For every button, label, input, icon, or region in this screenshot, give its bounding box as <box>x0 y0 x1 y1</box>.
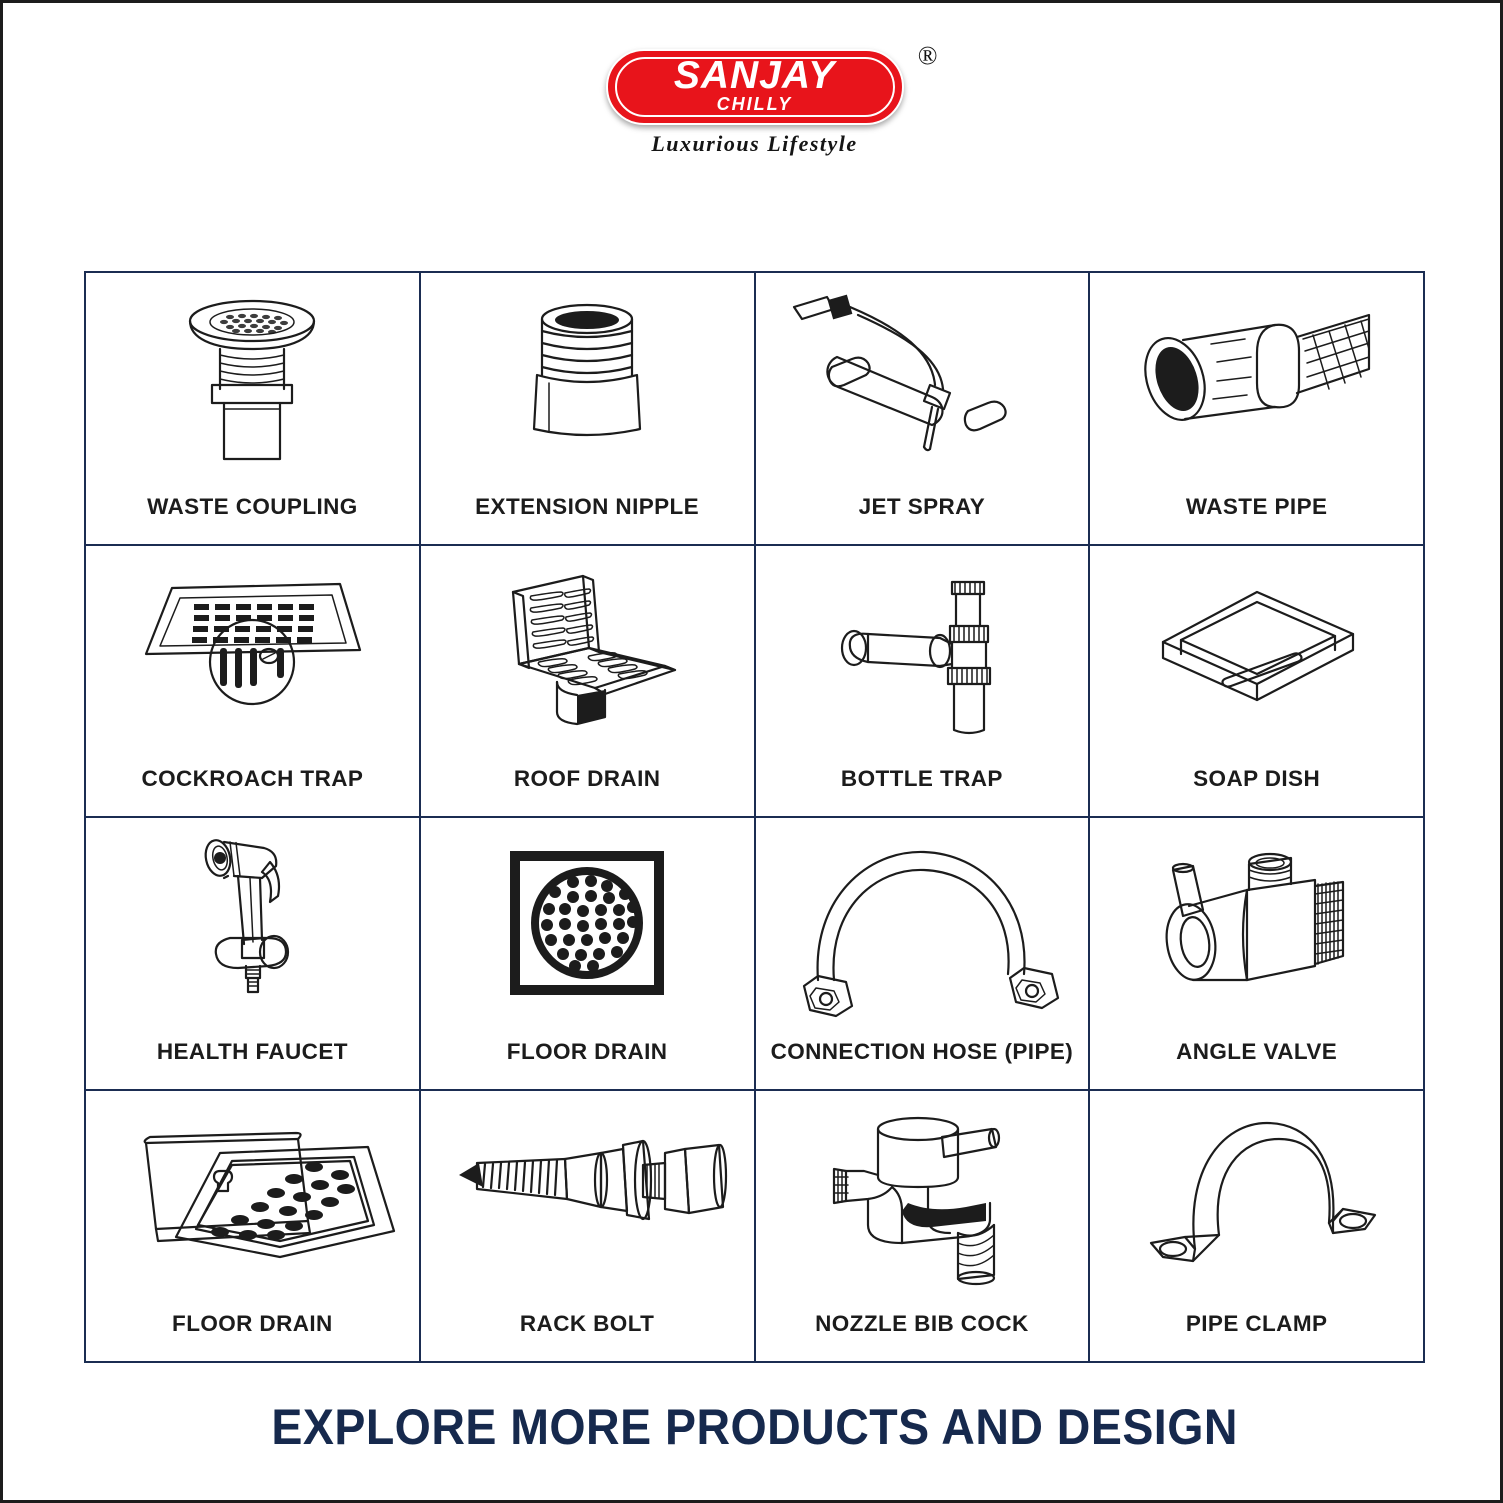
waste-pipe-icon <box>1107 289 1407 479</box>
roof-drain-icon <box>437 562 737 752</box>
soap-dish-icon <box>1107 562 1407 752</box>
logo-brand-name: SANJAY <box>606 54 904 98</box>
product-cell-waste-coupling[interactable]: WASTE COUPLING <box>86 273 421 546</box>
nozzle-bib-cock-icon <box>772 1107 1072 1297</box>
product-label: CONNECTION HOSE (PIPE) <box>760 1039 1085 1065</box>
product-label: FLOOR DRAIN <box>425 1039 750 1065</box>
bottle-trap-icon <box>772 562 1072 752</box>
product-label: WASTE PIPE <box>1094 494 1419 520</box>
brand-logo: SANJAY CHILLY ® Luxurious Lifestyle <box>3 49 1503 179</box>
product-label: WASTE COUPLING <box>90 494 415 520</box>
product-label: NOZZLE BIB COCK <box>760 1311 1085 1337</box>
extension-nipple-icon <box>437 289 737 479</box>
product-label: FLOOR DRAIN <box>90 1311 415 1337</box>
connection-hose-icon <box>772 834 1072 1024</box>
product-cell-floor-drain-round[interactable]: FLOOR DRAIN <box>421 818 756 1091</box>
product-cell-jet-spray[interactable]: JET SPRAY <box>756 273 1091 546</box>
product-cell-soap-dish[interactable]: SOAP DISH <box>1090 546 1425 819</box>
registered-trademark-icon: ® <box>918 41 938 71</box>
floor-drain-round-icon <box>437 834 737 1024</box>
angle-valve-icon <box>1107 834 1407 1024</box>
waste-coupling-icon <box>102 289 402 479</box>
cockroach-trap-icon <box>102 562 402 752</box>
pipe-clamp-icon <box>1107 1107 1407 1297</box>
product-grid: WASTE COUPLING EXTENSION NIPPLE <box>84 271 1425 1363</box>
product-cell-waste-pipe[interactable]: WASTE PIPE <box>1090 273 1425 546</box>
product-label: PIPE CLAMP <box>1094 1311 1419 1337</box>
product-label: EXTENSION NIPPLE <box>425 494 750 520</box>
logo-pill-wrapper: SANJAY CHILLY ® <box>606 49 904 125</box>
product-cell-rack-bolt[interactable]: RACK BOLT <box>421 1091 756 1364</box>
product-cell-angle-valve[interactable]: ANGLE VALVE <box>1090 818 1425 1091</box>
product-cell-health-faucet[interactable]: HEALTH FAUCET <box>86 818 421 1091</box>
product-label: ANGLE VALVE <box>1094 1039 1419 1065</box>
product-cell-extension-nipple[interactable]: EXTENSION NIPPLE <box>421 273 756 546</box>
health-faucet-icon <box>102 834 402 1024</box>
product-label: BOTTLE TRAP <box>760 766 1085 792</box>
product-label: RACK BOLT <box>425 1311 750 1337</box>
product-catalog-page: SANJAY CHILLY ® Luxurious Lifestyle <box>0 0 1503 1503</box>
jet-spray-icon <box>772 289 1072 479</box>
product-label: JET SPRAY <box>760 494 1085 520</box>
logo-brand-sub: CHILLY <box>606 94 904 114</box>
logo-tagline: Luxurious Lifestyle <box>651 131 857 157</box>
product-cell-nozzle-bib-cock[interactable]: NOZZLE BIB COCK <box>756 1091 1091 1364</box>
floor-drain-square-icon <box>102 1107 402 1297</box>
product-cell-cockroach-trap[interactable]: COCKROACH TRAP <box>86 546 421 819</box>
product-label: COCKROACH TRAP <box>90 766 415 792</box>
rack-bolt-icon <box>437 1107 737 1297</box>
product-label: SOAP DISH <box>1094 766 1419 792</box>
product-label: ROOF DRAIN <box>425 766 750 792</box>
product-cell-floor-drain-square[interactable]: FLOOR DRAIN <box>86 1091 421 1364</box>
footer-headline: EXPLORE MORE PRODUCTS AND DESIGN <box>271 1398 1238 1456</box>
product-cell-roof-drain[interactable]: ROOF DRAIN <box>421 546 756 819</box>
footer: EXPLORE MORE PRODUCTS AND DESIGN <box>3 1398 1503 1456</box>
product-cell-bottle-trap[interactable]: BOTTLE TRAP <box>756 546 1091 819</box>
product-cell-pipe-clamp[interactable]: PIPE CLAMP <box>1090 1091 1425 1364</box>
product-label: HEALTH FAUCET <box>90 1039 415 1065</box>
product-cell-connection-hose[interactable]: CONNECTION HOSE (PIPE) <box>756 818 1091 1091</box>
